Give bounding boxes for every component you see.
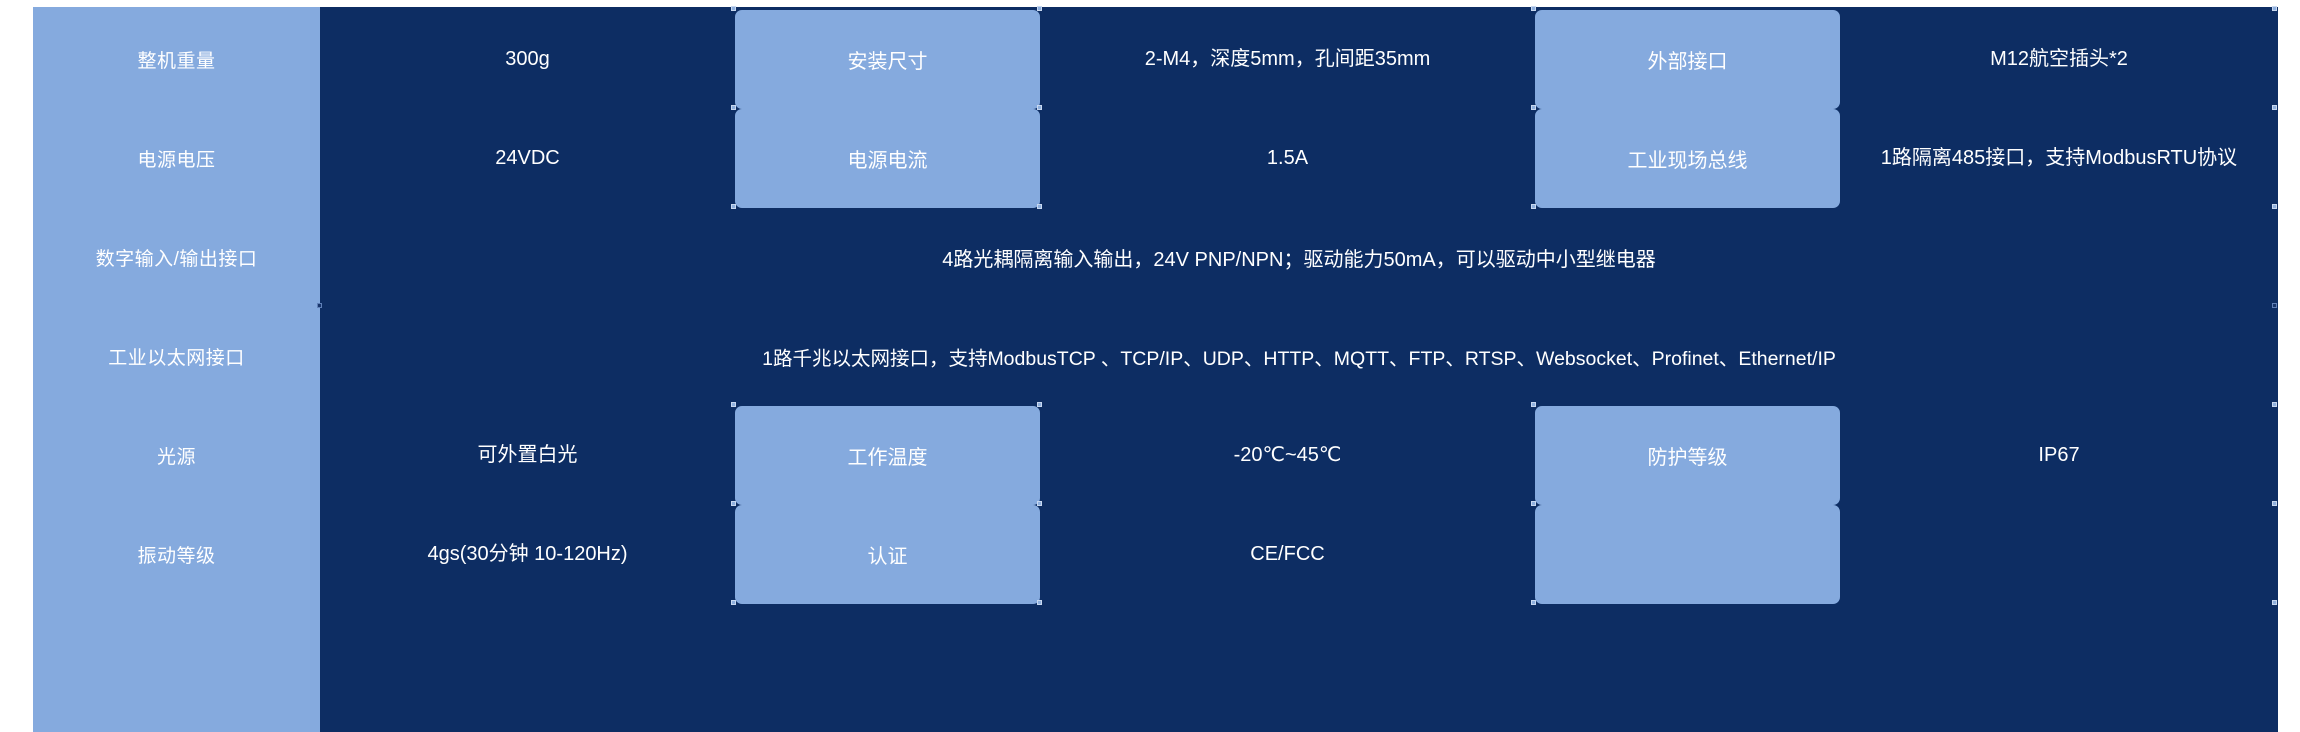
selection-handle[interactable]: [731, 501, 736, 506]
selection-handle[interactable]: [2272, 6, 2277, 11]
row1-key-3[interactable]: 外部接口: [1535, 10, 1840, 109]
selection-handle[interactable]: [1037, 501, 1042, 506]
table-row: 工业以太网接口 1路千兆以太网接口，支持ModbusTCP 、TCP/IP、UD…: [0, 307, 2300, 406]
selection-handle[interactable]: [2272, 402, 2277, 407]
selection-handle[interactable]: [317, 303, 322, 308]
row5-key-3[interactable]: 防护等级: [1535, 406, 1840, 505]
selection-handle[interactable]: [731, 6, 736, 11]
selection-handle[interactable]: [2272, 303, 2277, 308]
selection-handle[interactable]: [1037, 105, 1042, 110]
row3-value-full: 4路光耦隔离输入输出，24V PNP/NPN；驱动能力50mA，可以驱动中小型继…: [320, 208, 2278, 307]
row6-value-3-empty: [1840, 505, 2278, 604]
selection-handle[interactable]: [1531, 105, 1536, 110]
selection-handle[interactable]: [731, 204, 736, 209]
selection-handle[interactable]: [2272, 105, 2277, 110]
row-label-3: 数字输入/输出接口: [33, 208, 320, 307]
row-label-2: 电源电压: [33, 109, 320, 208]
row1-value-1: 300g: [320, 10, 735, 109]
row2-value-2: 1.5A: [1040, 109, 1535, 208]
row2-value-3: 1路隔离485接口，支持ModbusRTU协议: [1840, 109, 2278, 208]
selection-handle[interactable]: [1531, 6, 1536, 11]
table-row: 光源 可外置白光 工作温度 -20℃~45℃ 防护等级 IP67: [0, 406, 2300, 505]
row5-key-2[interactable]: 工作温度: [735, 406, 1040, 505]
selection-handle[interactable]: [731, 600, 736, 605]
row2-value-1: 24VDC: [320, 109, 735, 208]
row2-key-3[interactable]: 工业现场总线: [1535, 109, 1840, 208]
selection-handle[interactable]: [1531, 600, 1536, 605]
row1-value-2: 2-M4，深度5mm，孔间距35mm: [1040, 10, 1535, 109]
row6-value-1: 4gs(30分钟 10-120Hz): [320, 505, 735, 604]
selection-handle[interactable]: [1037, 6, 1042, 11]
selection-handle[interactable]: [1037, 204, 1042, 209]
row2-key-2[interactable]: 电源电流: [735, 109, 1040, 208]
selection-handle[interactable]: [1037, 402, 1042, 407]
table-row: 电源电压 24VDC 电源电流 1.5A 工业现场总线 1路隔离485接口，支持…: [0, 109, 2300, 208]
row6-value-2: CE/FCC: [1040, 505, 1535, 604]
row6-key-3-empty[interactable]: [1535, 505, 1840, 604]
row4-value-full: 1路千兆以太网接口，支持ModbusTCP 、TCP/IP、UDP、HTTP、M…: [320, 307, 2278, 406]
row-label-1: 整机重量: [33, 10, 320, 109]
selection-handle[interactable]: [1531, 402, 1536, 407]
selection-handle[interactable]: [1531, 204, 1536, 209]
row1-key-2[interactable]: 安装尺寸: [735, 10, 1040, 109]
selection-handle[interactable]: [1531, 501, 1536, 506]
row1-value-3: M12航空插头*2: [1840, 10, 2278, 109]
selection-handle[interactable]: [731, 402, 736, 407]
selection-handle[interactable]: [2272, 204, 2277, 209]
row5-value-3: IP67: [1840, 406, 2278, 505]
selection-handle[interactable]: [731, 105, 736, 110]
selection-handle[interactable]: [2272, 600, 2277, 605]
table-row: 数字输入/输出接口 4路光耦隔离输入输出，24V PNP/NPN；驱动能力50m…: [0, 208, 2300, 307]
row-label-5: 光源: [33, 406, 320, 505]
table-row: 整机重量 300g 安装尺寸 2-M4，深度5mm，孔间距35mm 外部接口 M…: [0, 10, 2300, 109]
table-row: 振动等级 4gs(30分钟 10-120Hz) 认证 CE/FCC: [0, 505, 2300, 604]
selection-handle[interactable]: [1037, 600, 1042, 605]
spec-table-slide: 整机重量 300g 安装尺寸 2-M4，深度5mm，孔间距35mm 外部接口 M…: [0, 0, 2300, 732]
selection-handle[interactable]: [2272, 501, 2277, 506]
row5-value-1: 可外置白光: [320, 406, 735, 505]
row-label-6: 振动等级: [33, 505, 320, 604]
row6-key-2[interactable]: 认证: [735, 505, 1040, 604]
row-label-4: 工业以太网接口: [33, 307, 320, 406]
row5-value-2: -20℃~45℃: [1040, 406, 1535, 505]
